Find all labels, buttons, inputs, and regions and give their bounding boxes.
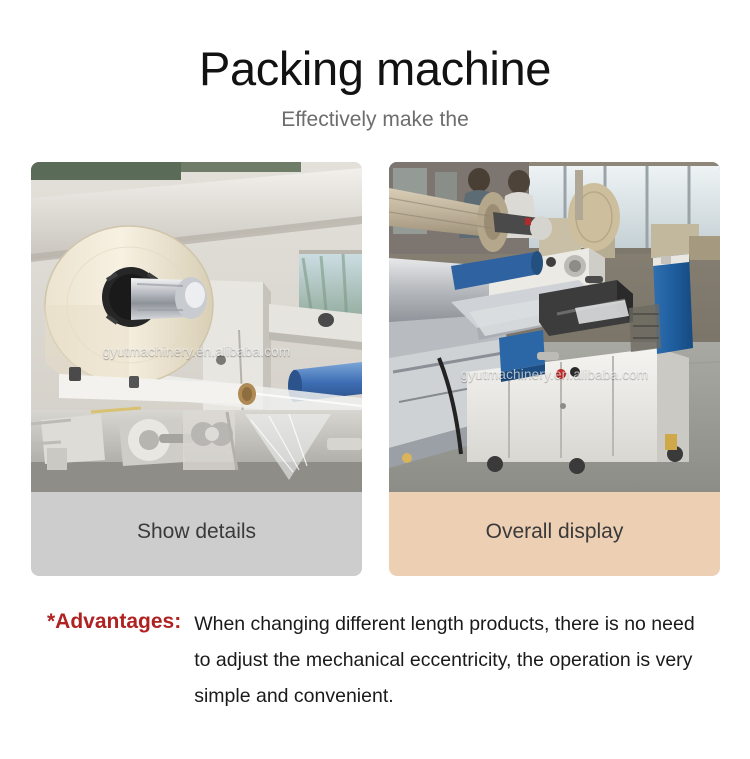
photo-packing-machine-film-roll-closeup: gyutmachinery.en.alibaba.com	[31, 162, 362, 492]
advantages-text: When changing different length products,…	[194, 606, 699, 714]
page-title: Packing machine	[0, 44, 750, 95]
photo-illustration-right	[389, 162, 720, 492]
card-show-details[interactable]: gyutmachinery.en.alibaba.com Show detail…	[31, 162, 362, 576]
photo-packing-machine-overall-view: gyutmachinery.en.alibaba.com	[389, 162, 720, 492]
card-overall-display[interactable]: gyutmachinery.en.alibaba.com Overall dis…	[389, 162, 720, 576]
page-header: Packing machine Effectively make the	[0, 0, 750, 132]
photo-illustration-left	[31, 162, 362, 492]
product-image-cards: gyutmachinery.en.alibaba.com Show detail…	[31, 162, 720, 576]
caption-overall-display: Overall display	[389, 492, 720, 576]
caption-show-details: Show details	[31, 492, 362, 576]
advantages-label: *Advantages:	[0, 606, 181, 638]
advantages-block: *Advantages: When changing different len…	[0, 606, 750, 714]
page-subtitle: Effectively make the	[0, 107, 750, 132]
